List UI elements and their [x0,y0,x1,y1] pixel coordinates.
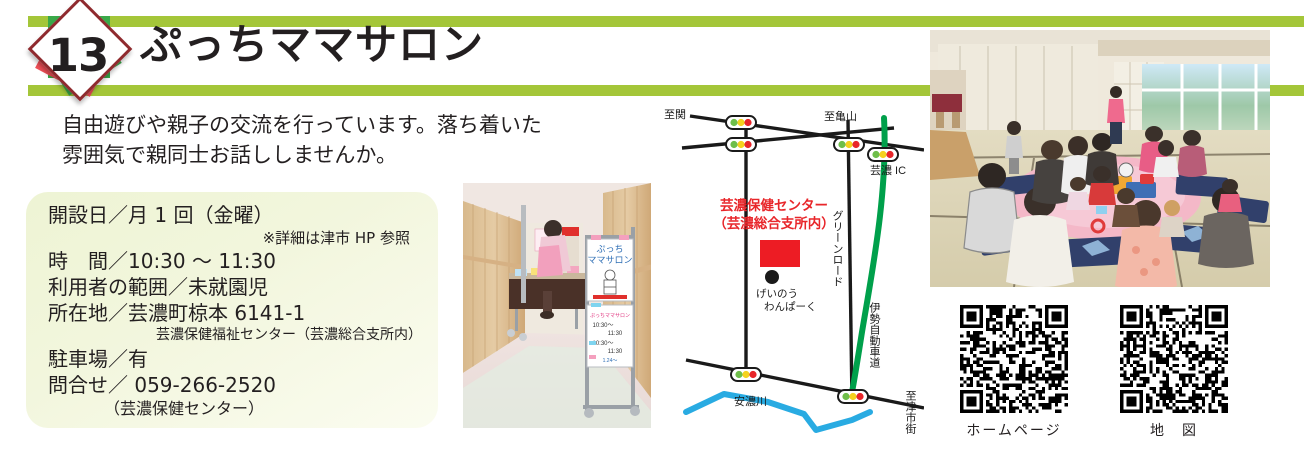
flyer-page: 13 ぷっちママサロン 自由遊びや親子の交流を行っています。落ち着いた 雰囲気で… [0,0,1304,453]
facility-block [760,240,800,267]
svg-text:11:30: 11:30 [608,349,623,355]
map-label-geino-ic: 芸濃 IC [870,163,906,177]
svg-text:ぷっち: ぷっち [596,244,623,254]
location-map: 至関 至亀山 芸濃 IC グリーンロード 伊勢自動車道 安濃川 至津市街 芸濃保… [656,102,924,440]
qr-map[interactable]: 地 図 [1115,305,1233,440]
photo-tatami-room-activity [930,30,1270,287]
map-label-facility-line1: 芸濃保健センター [720,197,828,213]
detail-address: 所在地／芸濃町椋本 6141-1 [48,300,424,326]
map-label-facility-line2: （芸濃総合支所内） [713,215,835,231]
detail-open-day: 開設日／月 1 回（金曜） [48,202,424,228]
location-map-graphic: 至関 至亀山 芸濃 IC グリーンロード 伊勢自動車道 安濃川 至津市街 芸濃保… [656,102,924,440]
qr-homepage[interactable]: ホームページ [955,305,1073,440]
section-number-badge: 13 [18,2,136,106]
detail-parking: 駐車場／有 [48,346,424,372]
page-title: ぷっちママサロン [140,24,484,66]
detail-facility-name: 芸濃保健福祉センター（芸濃総合支所内） [48,326,424,346]
lead-description: 自由遊びや親子の交流を行っています。落ち着いた 雰囲気で親同士お話ししませんか。 [62,110,542,171]
svg-text:1.24～: 1.24～ [603,358,618,364]
detail-phone-owner: （芸濃保健センター） [48,398,424,420]
map-label-ano-river: 安濃川 [734,394,767,408]
svg-text:10:30～: 10:30～ [592,323,613,329]
photo-corridor-signboard: ぷっち ママサロン ぷっちママサロン 10:30～ 11:30 10:30～ 1… [463,183,651,428]
map-label-to-seki: 至関 [664,108,686,121]
map-label-park-line2: わんぱーく [764,301,817,313]
qr-map-image[interactable] [1120,305,1228,413]
map-label-park-line1: げいのう [756,288,798,300]
map-label-ise-expressway: 伊勢自動車道 [868,302,881,368]
detail-open-day-note: ※詳細は津市 HP 参照 [48,228,424,248]
qr-homepage-label: ホームページ [955,420,1073,440]
detail-target-users: 利用者の範囲／未就園児 [48,274,424,300]
photo-corridor-graphic: ぷっち ママサロン ぷっちママサロン 10:30～ 11:30 10:30～ 1… [463,183,651,428]
detail-phone: 問合せ／ 059-266-2520 [48,372,424,398]
svg-text:ママサロン: ママサロン [587,255,632,265]
svg-text:11:30: 11:30 [608,331,623,337]
qr-map-label: 地 図 [1115,420,1233,440]
details-card: 開設日／月 1 回（金曜） ※詳細は津市 HP 参照 時 間／10:30 ～ 1… [26,192,438,428]
badge-number-text: 13 [18,2,136,106]
svg-text:ぷっちママサロン: ぷっちママサロン [590,313,630,319]
map-label-to-tsu-city: 至津市街 [904,390,917,435]
detail-time: 時 間／10:30 ～ 11:30 [48,248,424,274]
qr-homepage-image[interactable] [960,305,1068,413]
qr-code-row: ホームページ 地 図 [955,305,1255,445]
photo-tatami-graphic [930,30,1270,287]
map-label-to-kameyama: 至亀山 [824,109,857,123]
park-marker-dot [765,270,779,284]
